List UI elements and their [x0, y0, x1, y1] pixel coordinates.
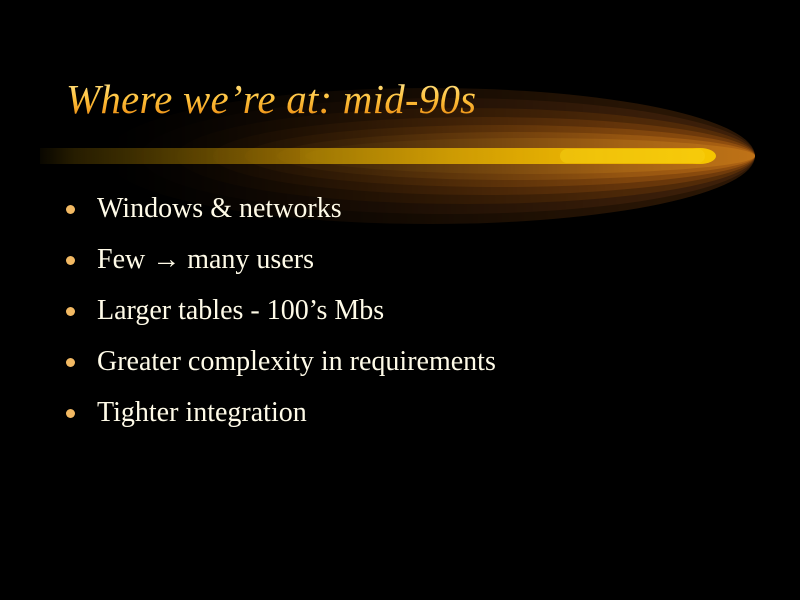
list-item: Greater complexity in requirements: [60, 336, 760, 387]
bullet-dot-icon: [66, 409, 75, 418]
bullet-dot-icon: [66, 256, 75, 265]
list-item: Windows & networks: [60, 183, 760, 234]
bullet-dot-icon: [66, 205, 75, 214]
list-item-label: Windows & networks: [97, 193, 342, 225]
list-item: Larger tables - 100’s Mbs: [60, 285, 760, 336]
bullet-dot-icon: [66, 358, 75, 367]
list-item-label: Larger tables - 100’s Mbs: [97, 295, 384, 327]
presentation-slide: Where we’re at: mid-90s Windows & networ…: [0, 0, 800, 600]
list-item: Few → many users: [60, 234, 760, 285]
bullet-list: Windows & networks Few → many users Larg…: [60, 183, 760, 438]
list-item-label: Greater complexity in requirements: [97, 346, 496, 378]
bullet-dot-icon: [66, 307, 75, 316]
title-block: Where we’re at: mid-90s: [66, 76, 686, 132]
comet-core-bar: [40, 148, 716, 164]
list-item-label: Few → many users: [97, 244, 314, 276]
list-item-label: Tighter integration: [97, 397, 307, 429]
page-title: Where we’re at: mid-90s: [66, 76, 686, 122]
list-item: Tighter integration: [60, 387, 760, 438]
